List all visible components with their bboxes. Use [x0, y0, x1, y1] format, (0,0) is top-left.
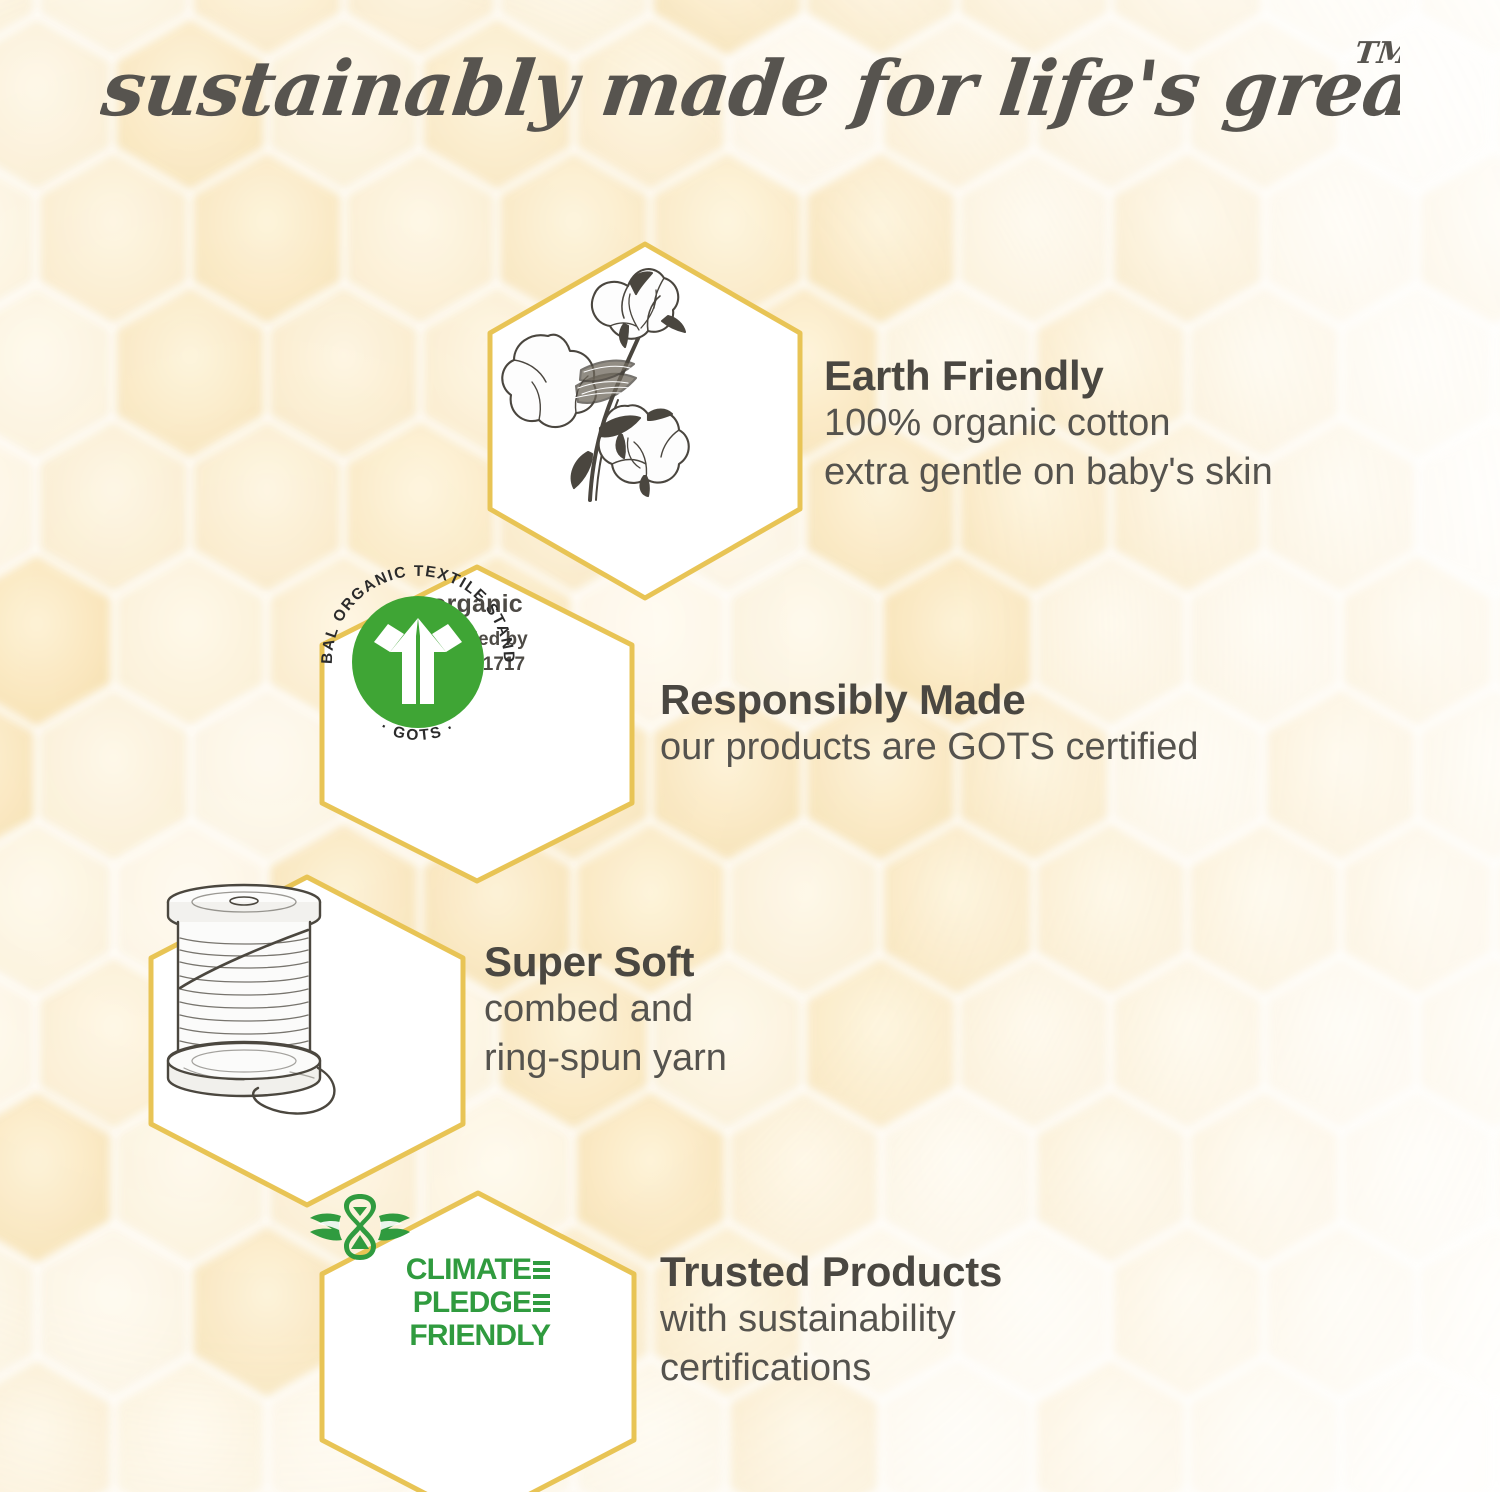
feature-title: Super Soft [484, 938, 727, 985]
thread-spool-icon [140, 872, 370, 1122]
feature-line: ring-spun yarn [484, 1034, 727, 1083]
feature-title: Earth Friendly [824, 352, 1273, 399]
climate-pledge-friendly-logo: CLIMATE PLEDGE FRIENDLY [406, 1255, 551, 1351]
feature-title: Trusted Products [660, 1248, 1002, 1295]
feature-line: certifications [660, 1344, 1002, 1393]
hex-card-super-soft [140, 872, 474, 1210]
feature-line: with sustainability [660, 1295, 1002, 1344]
tagline-container: sustainably made for life's greatest joy… [0, 34, 1500, 154]
hex-card-responsibly-made: GLOBAL ORGANIC TEXTILE STANDARD · GOTS ·… [312, 562, 642, 886]
climate-pledge-word-1: CLIMATE [406, 1255, 532, 1285]
feature-title: Responsibly Made [660, 676, 1199, 723]
climate-pledge-word-3: FRIENDLY [409, 1321, 550, 1351]
winged-hourglass-icon [308, 1188, 412, 1266]
feature-text-responsibly-made: Responsibly Made our products are GOTS c… [660, 676, 1199, 772]
hex-card-earth-friendly [478, 238, 812, 604]
gots-seal-icon: GLOBAL ORGANIC TEXTILE STANDARD · GOTS · [312, 562, 524, 758]
infographic-canvas: sustainably made for life's greatest joy… [0, 0, 1500, 1492]
feature-text-super-soft: Super Soft combed and ring-spun yarn [484, 938, 727, 1082]
feature-text-earth-friendly: Earth Friendly 100% organic cotton extra… [824, 352, 1273, 496]
tagline-script-text: sustainably made for life's greatest joy… [100, 29, 1400, 159]
svg-text:sustainably made for life's gr: sustainably made for life's greatest joy [100, 43, 1400, 133]
hex-card-trusted-products: CLIMATE PLEDGE FRIENDLY [308, 1188, 648, 1492]
feature-line: combed and [484, 985, 727, 1034]
feature-text-trusted-products: Trusted Products with sustainability cer… [660, 1248, 1002, 1392]
cotton-branch-icon [478, 238, 728, 508]
feature-line: 100% organic cotton [824, 399, 1273, 448]
feature-line: extra gentle on baby's skin [824, 448, 1273, 497]
climate-pledge-word-2: PLEDGE [413, 1288, 532, 1318]
svg-text:TM: TM [1353, 36, 1400, 71]
gots-certification-badge: GLOBAL ORGANIC TEXTILE STANDARD · GOTS ·… [426, 580, 527, 677]
feature-line: our products are GOTS certified [660, 723, 1199, 772]
climate-pledge-bars-icon [533, 1261, 550, 1279]
climate-pledge-bars-icon [533, 1294, 550, 1312]
